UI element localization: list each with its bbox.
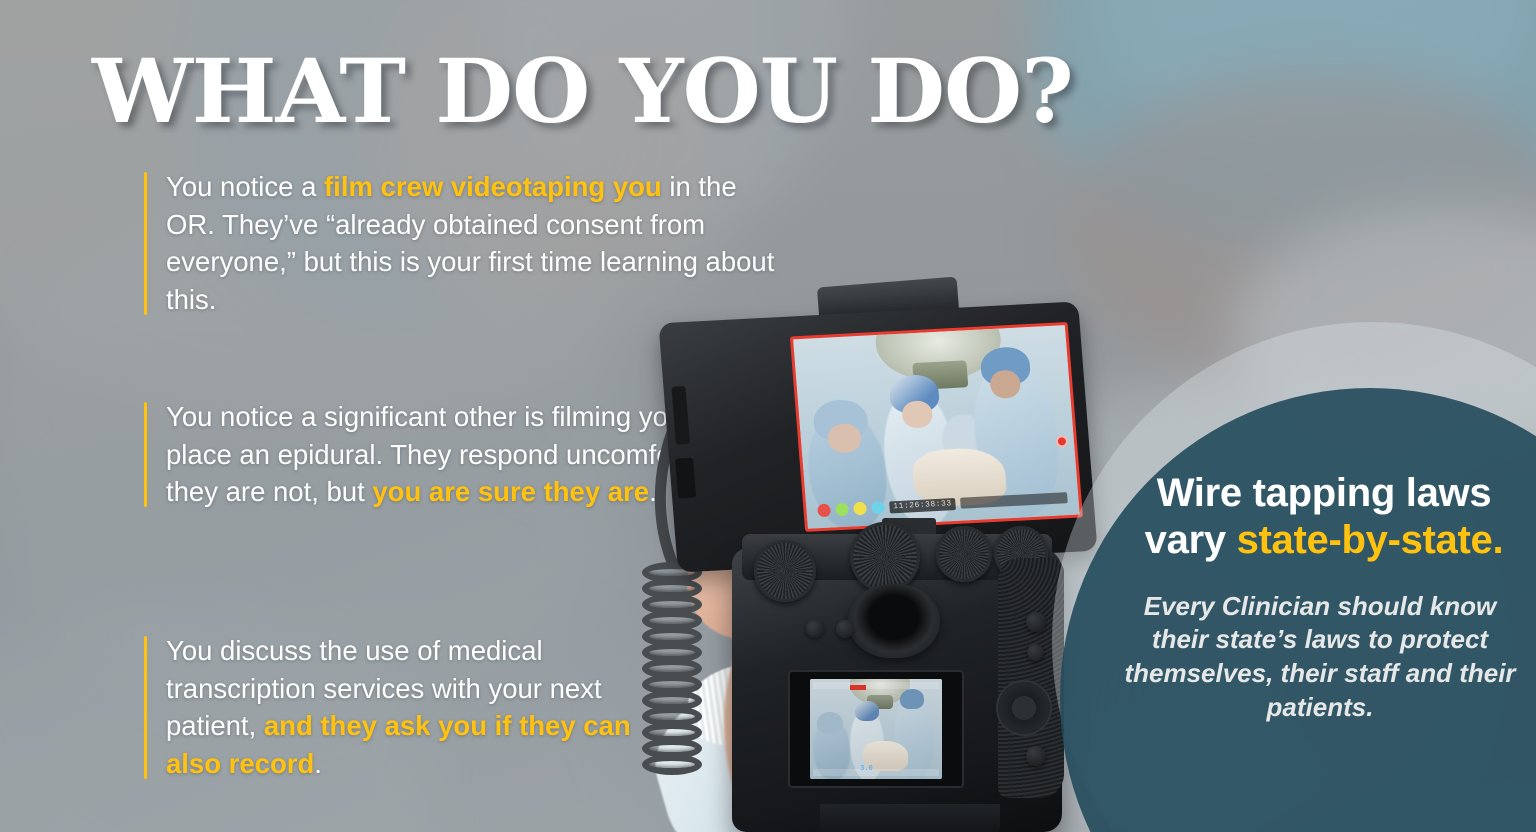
control-pad[interactable] xyxy=(996,680,1052,736)
scenario-3-text: You discuss the use of medical transcrip… xyxy=(166,635,631,779)
highlighted-text: film crew videotaping you xyxy=(324,171,662,202)
highlighted-text: state-by-state xyxy=(1237,518,1493,562)
page-title: WHAT DO YOU DO? xyxy=(92,50,1073,134)
viewfinder-eyecup xyxy=(848,584,940,658)
lcd-osd: 3.0 xyxy=(810,679,942,779)
callout-subtext: Every Clinician should know their state’… xyxy=(1112,590,1528,725)
gold-accent-rule-1 xyxy=(144,172,147,315)
osd-strip xyxy=(960,493,1068,510)
highlighted-text: . xyxy=(1492,518,1503,562)
disp-back-button[interactable] xyxy=(1026,746,1046,766)
monitor-port-2 xyxy=(675,458,696,499)
monitor-port xyxy=(671,386,690,445)
osd-dot-play[interactable] xyxy=(835,503,849,517)
body-text: You notice a xyxy=(166,171,324,202)
osd-dot-record[interactable] xyxy=(817,504,831,518)
callout-content: Wire tapping laws vary state-by-state. E… xyxy=(1112,470,1536,725)
monitor-screen: 11:26:38:33 xyxy=(790,322,1083,532)
shutter-speed-dial[interactable] xyxy=(850,522,920,592)
function-button-2[interactable] xyxy=(836,620,854,638)
exposure-comp-dial[interactable] xyxy=(754,540,816,602)
camera-rear-lcd[interactable]: 3.0 xyxy=(788,670,964,788)
function-button-1[interactable] xyxy=(806,620,824,638)
infographic-slide: WHAT DO YOU DO? You notice a film crew v… xyxy=(0,0,1536,832)
lcd-exposure-readout: 3.0 xyxy=(860,765,873,773)
camera-body: 3.0 xyxy=(732,548,1062,832)
iso-dial[interactable] xyxy=(936,526,992,582)
battery-base xyxy=(820,804,1000,832)
gold-accent-rule-2 xyxy=(144,402,147,507)
osd-dot-tag[interactable] xyxy=(853,502,867,516)
body-text: . xyxy=(314,748,322,779)
coiled-cable xyxy=(642,562,704,792)
gold-accent-rule-3 xyxy=(144,636,147,779)
callout-heading: Wire tapping laws vary state-by-state. xyxy=(1112,470,1536,564)
q-menu-button[interactable] xyxy=(1027,644,1044,661)
osd-timecode: 11:26:38:33 xyxy=(889,498,956,513)
osd-dot-tool[interactable] xyxy=(871,501,885,515)
af-on-button[interactable] xyxy=(1026,612,1046,632)
